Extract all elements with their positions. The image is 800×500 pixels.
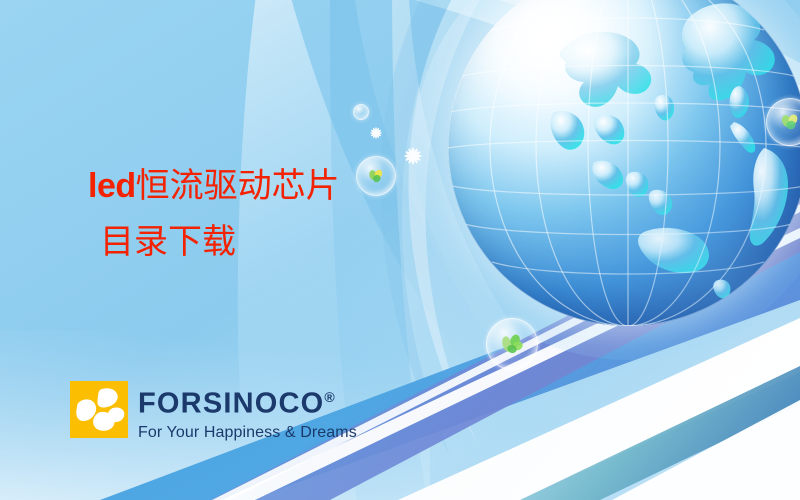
headline: led恒流驱动芯片 目录下载 bbox=[88, 158, 340, 271]
headline-line-1-latin: led bbox=[88, 167, 136, 205]
logo-wordmark: FORSINOCO® bbox=[138, 382, 357, 420]
promo-banner: led恒流驱动芯片 目录下载 FORSINOCO® For Your Happi… bbox=[0, 0, 800, 500]
pinwheel-flower-glyph bbox=[70, 381, 128, 438]
logo-text-block: FORSINOCO® For Your Happiness & Dreams bbox=[138, 381, 357, 442]
logo-tagline: For Your Happiness & Dreams bbox=[138, 423, 357, 442]
headline-line-1-cjk: 恒流驱动芯片 bbox=[136, 168, 340, 205]
logo-wordmark-text: FORSINOCO bbox=[138, 388, 324, 420]
pinwheel-flower-icon bbox=[70, 381, 128, 438]
brand-logo: FORSINOCO® For Your Happiness & Dreams bbox=[70, 381, 357, 442]
headline-line-2: 目录下载 bbox=[88, 215, 340, 271]
registered-trademark-icon: ® bbox=[324, 389, 334, 405]
headline-line-1: led恒流驱动芯片 bbox=[88, 158, 340, 215]
